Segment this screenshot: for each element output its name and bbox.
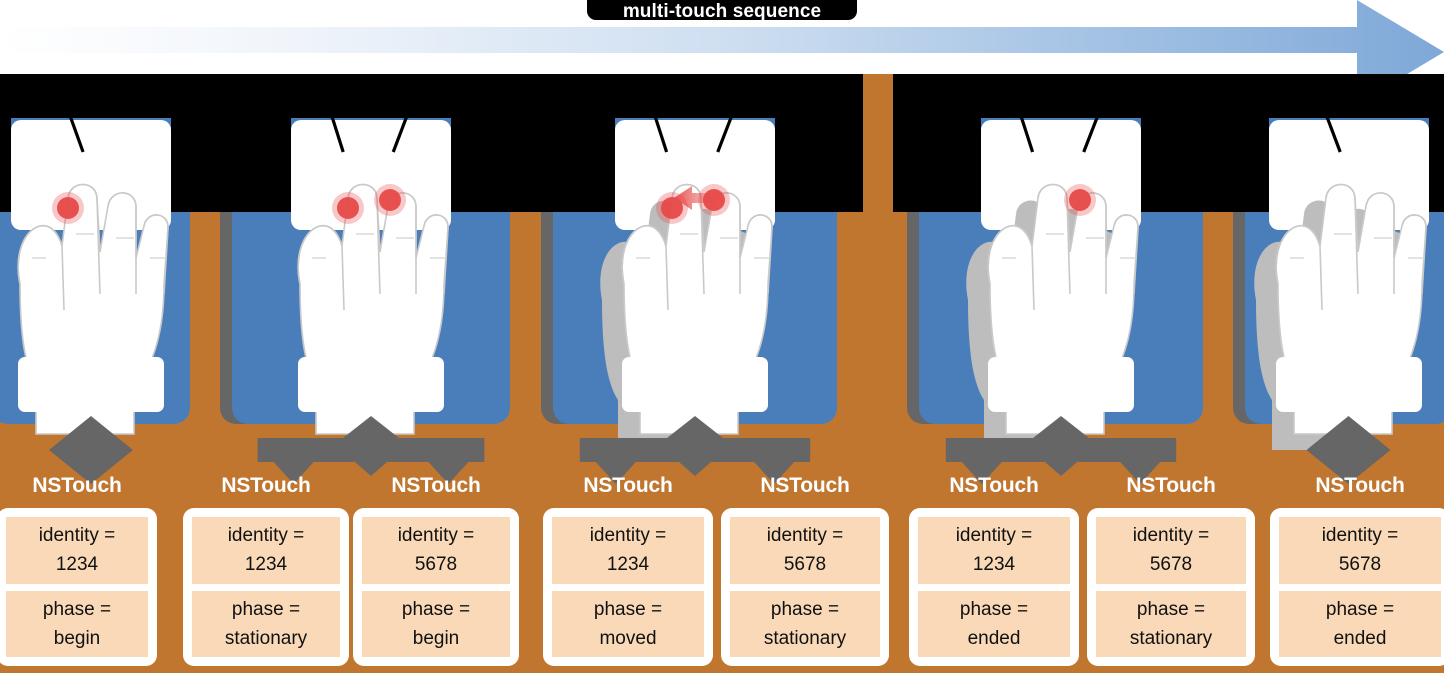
phase-property: phase = stationary (1096, 591, 1246, 658)
phase-value: stationary (194, 624, 338, 653)
phase-property: phase = moved (552, 591, 704, 658)
phase-property: phase = ended (1279, 591, 1441, 658)
nstouch-label: NSTouch (543, 474, 713, 498)
identity-property: identity = 1234 (192, 517, 340, 584)
phase-key: phase = (920, 595, 1068, 624)
nstouch-card[interactable]: identity = 5678 phase = stationary (721, 508, 889, 666)
identity-value: 5678 (1098, 550, 1244, 579)
nstouch-card[interactable]: identity = 1234 phase = begin (0, 508, 157, 666)
phase-key: phase = (364, 595, 508, 624)
nsevent-body-box[interactable] (298, 357, 444, 412)
identity-value: 5678 (364, 550, 508, 579)
phase-value: ended (1281, 624, 1439, 653)
nsevent-label: NSEvent (232, 328, 510, 352)
phase-key: phase = (8, 595, 146, 624)
nstouch-label: NSTouch (183, 474, 349, 498)
trackpad[interactable] (291, 120, 451, 230)
left-mask-band (0, 112, 11, 212)
nstouch-label: NSTouch (1270, 474, 1444, 498)
identity-property: identity = 5678 (730, 517, 880, 584)
nsevent-body-box[interactable] (622, 357, 768, 412)
event-column: NSEvent NSTouch identity = 5678 phase = … (1245, 74, 1444, 673)
right-mask-band (451, 112, 536, 212)
phase-key: phase = (194, 595, 338, 624)
nsevent-label: NSEvent (919, 328, 1203, 352)
identity-key: identity = (732, 521, 878, 550)
identity-key: identity = (554, 521, 702, 550)
nstouch-label: NSTouch (909, 474, 1079, 498)
sequence-title-pill: multi-touch sequence (587, 0, 857, 20)
right-mask-band (775, 112, 863, 212)
event-column: NSEvent NSTouch identity = 1234 phase = … (232, 74, 510, 673)
identity-property: identity = 5678 (1096, 517, 1246, 584)
nstouch-card[interactable]: identity = 1234 phase = moved (543, 508, 713, 666)
trackpad[interactable] (981, 120, 1141, 230)
left-mask-band (206, 112, 291, 212)
phase-value: stationary (732, 624, 878, 653)
identity-property: identity = 1234 (6, 517, 148, 584)
phase-value: stationary (1098, 624, 1244, 653)
right-mask-band (1429, 112, 1444, 212)
identity-key: identity = (364, 521, 508, 550)
identity-key: identity = (8, 521, 146, 550)
nstouch-card[interactable]: identity = 5678 phase = ended (1270, 508, 1444, 666)
identity-key: identity = (1098, 521, 1244, 550)
event-column: NSEvent NSTouch identity = 1234 phase = … (919, 74, 1203, 673)
trackpad[interactable] (1269, 120, 1429, 230)
phase-key: phase = (1281, 595, 1439, 624)
identity-key: identity = (1281, 521, 1439, 550)
identity-property: identity = 1234 (918, 517, 1070, 584)
nsevent-label: NSEvent (1245, 328, 1444, 352)
phase-key: phase = (1098, 595, 1244, 624)
phase-property: phase = stationary (192, 591, 340, 658)
phase-value: begin (8, 624, 146, 653)
identity-value: 1234 (554, 550, 702, 579)
identity-value: 5678 (1281, 550, 1439, 579)
identity-property: identity = 5678 (1279, 517, 1441, 584)
nstouch-label: NSTouch (353, 474, 519, 498)
trackpad[interactable] (615, 120, 775, 230)
identity-value: 1234 (194, 550, 338, 579)
identity-property: identity = 1234 (552, 517, 704, 584)
diagram-canvas: NSEvent NSTouch identity = 1234 phase = … (0, 0, 1444, 673)
phase-property: phase = stationary (730, 591, 880, 658)
nsevent-body-box[interactable] (18, 357, 164, 412)
nsevent-body-box[interactable] (1276, 357, 1422, 412)
identity-value: 1234 (920, 550, 1068, 579)
identity-property: identity = 5678 (362, 517, 510, 584)
phase-key: phase = (554, 595, 702, 624)
nstouch-card[interactable]: identity = 5678 phase = begin (353, 508, 519, 666)
identity-value: 1234 (8, 550, 146, 579)
phase-property: phase = ended (918, 591, 1070, 658)
identity-key: identity = (920, 521, 1068, 550)
nsevent-label: NSEvent (553, 328, 837, 352)
sequence-title: multi-touch sequence (623, 4, 821, 19)
left-mask-band (527, 112, 615, 212)
phase-value: ended (920, 624, 1068, 653)
left-mask-band (893, 112, 981, 212)
nstouch-card[interactable]: identity = 5678 phase = stationary (1087, 508, 1255, 666)
phase-property: phase = begin (362, 591, 510, 658)
event-column: NSEvent NSTouch identity = 1234 phase = … (553, 74, 837, 673)
identity-value: 5678 (732, 550, 878, 579)
nstouch-label: NSTouch (721, 474, 889, 498)
nsevent-label: NSEvent (0, 328, 190, 352)
identity-key: identity = (194, 521, 338, 550)
nstouch-card[interactable]: identity = 1234 phase = stationary (183, 508, 349, 666)
event-column: NSEvent NSTouch identity = 1234 phase = … (0, 74, 190, 673)
nsevent-body-box[interactable] (988, 357, 1134, 412)
nstouch-label: NSTouch (0, 474, 157, 498)
phase-key: phase = (732, 595, 878, 624)
phase-value: moved (554, 624, 702, 653)
right-mask-band (1141, 112, 1229, 212)
phase-property: phase = begin (6, 591, 148, 658)
trackpad[interactable] (11, 120, 171, 230)
left-mask-band (1219, 112, 1269, 212)
nstouch-card[interactable]: identity = 1234 phase = ended (909, 508, 1079, 666)
nstouch-label: NSTouch (1087, 474, 1255, 498)
phase-value: begin (364, 624, 508, 653)
